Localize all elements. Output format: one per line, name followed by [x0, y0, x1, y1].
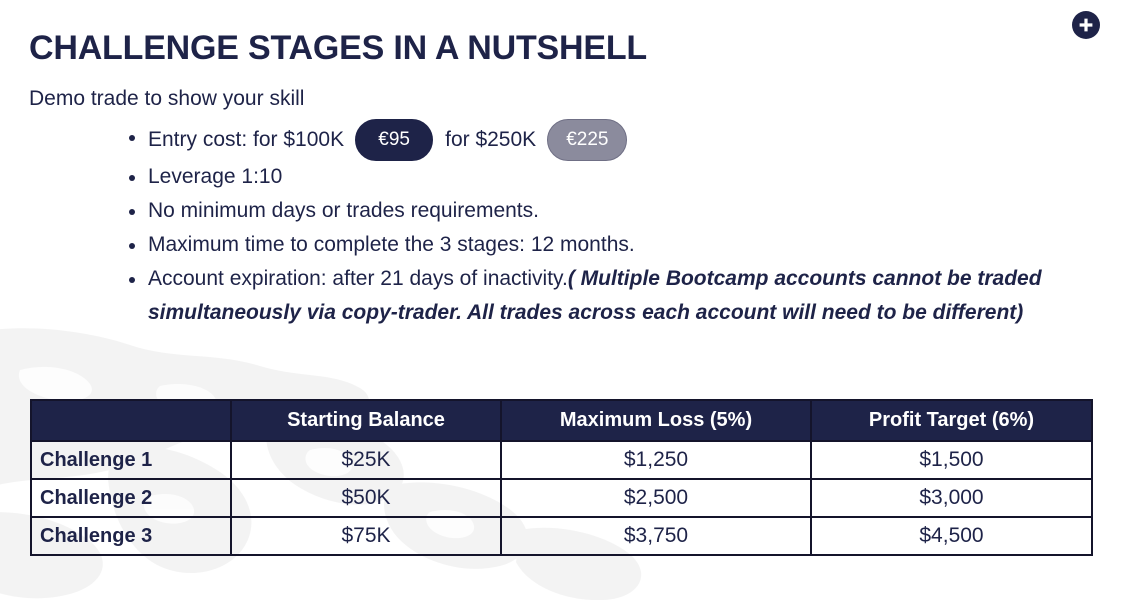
table-row: Challenge 3 $75K $3,750 $4,500 — [31, 517, 1092, 555]
challenge-table-wrapper: Starting Balance Maximum Loss (5%) Profi… — [30, 399, 1091, 556]
challenge-table: Starting Balance Maximum Loss (5%) Profi… — [30, 399, 1093, 556]
entry-cost-text-before: Entry cost: for $100K — [148, 123, 344, 157]
entry-cost-text-middle: for $250K — [445, 123, 536, 157]
table-row: Challenge 1 $25K $1,250 $1,500 — [31, 441, 1092, 479]
maximum-time-text: Maximum time to complete the 3 stages: 1… — [148, 233, 635, 256]
cell-maximum-loss-3: $3,750 — [501, 517, 811, 555]
intro-text: Demo trade to show your skill — [29, 85, 304, 112]
page-title: CHALLENGE STAGES IN A NUTSHELL — [29, 28, 647, 69]
table-row: Challenge 2 $50K $2,500 $3,000 — [31, 479, 1092, 517]
price-pill-100k[interactable]: €95 — [355, 119, 433, 161]
plus-circle-icon[interactable] — [1072, 11, 1100, 39]
cell-starting-balance-3: $75K — [231, 517, 501, 555]
cell-profit-target-1: $1,500 — [811, 441, 1092, 479]
table-header-row: Starting Balance Maximum Loss (5%) Profi… — [31, 400, 1092, 441]
list-item-leverage: Leverage 1:10 — [118, 160, 1098, 194]
cell-starting-balance-2: $50K — [231, 479, 501, 517]
table-header-blank — [31, 400, 231, 441]
row-label-challenge-1: Challenge 1 — [31, 441, 231, 479]
slide-content: CHALLENGE STAGES IN A NUTSHELL Demo trad… — [0, 0, 1125, 577]
list-item-account-expiration: Account expiration: after 21 days of ina… — [118, 262, 1098, 330]
list-item-minimum-days: No minimum days or trades requirements. — [118, 194, 1098, 228]
price-pill-250k[interactable]: €225 — [547, 119, 627, 161]
table-body: Challenge 1 $25K $1,250 $1,500 Challenge… — [31, 441, 1092, 555]
list-item-entry-cost: Entry cost: for $100K €95 for $250K €225 — [118, 120, 1098, 160]
cell-maximum-loss-2: $2,500 — [501, 479, 811, 517]
bullet-list: Entry cost: for $100K €95 for $250K €225… — [118, 120, 1098, 330]
cell-profit-target-3: $4,500 — [811, 517, 1092, 555]
table-header-profit-target: Profit Target (6%) — [811, 400, 1092, 441]
account-expiration-text: Account expiration: after 21 days of ina… — [148, 267, 568, 290]
cell-maximum-loss-1: $1,250 — [501, 441, 811, 479]
minimum-days-text: No minimum days or trades requirements. — [148, 199, 539, 222]
row-label-challenge-3: Challenge 3 — [31, 517, 231, 555]
table-header-starting-balance: Starting Balance — [231, 400, 501, 441]
list-item-maximum-time: Maximum time to complete the 3 stages: 1… — [118, 228, 1098, 262]
table-head: Starting Balance Maximum Loss (5%) Profi… — [31, 400, 1092, 441]
cell-profit-target-2: $3,000 — [811, 479, 1092, 517]
leverage-text: Leverage 1:10 — [148, 165, 282, 188]
table-header-maximum-loss: Maximum Loss (5%) — [501, 400, 811, 441]
row-label-challenge-2: Challenge 2 — [31, 479, 231, 517]
cell-starting-balance-1: $25K — [231, 441, 501, 479]
